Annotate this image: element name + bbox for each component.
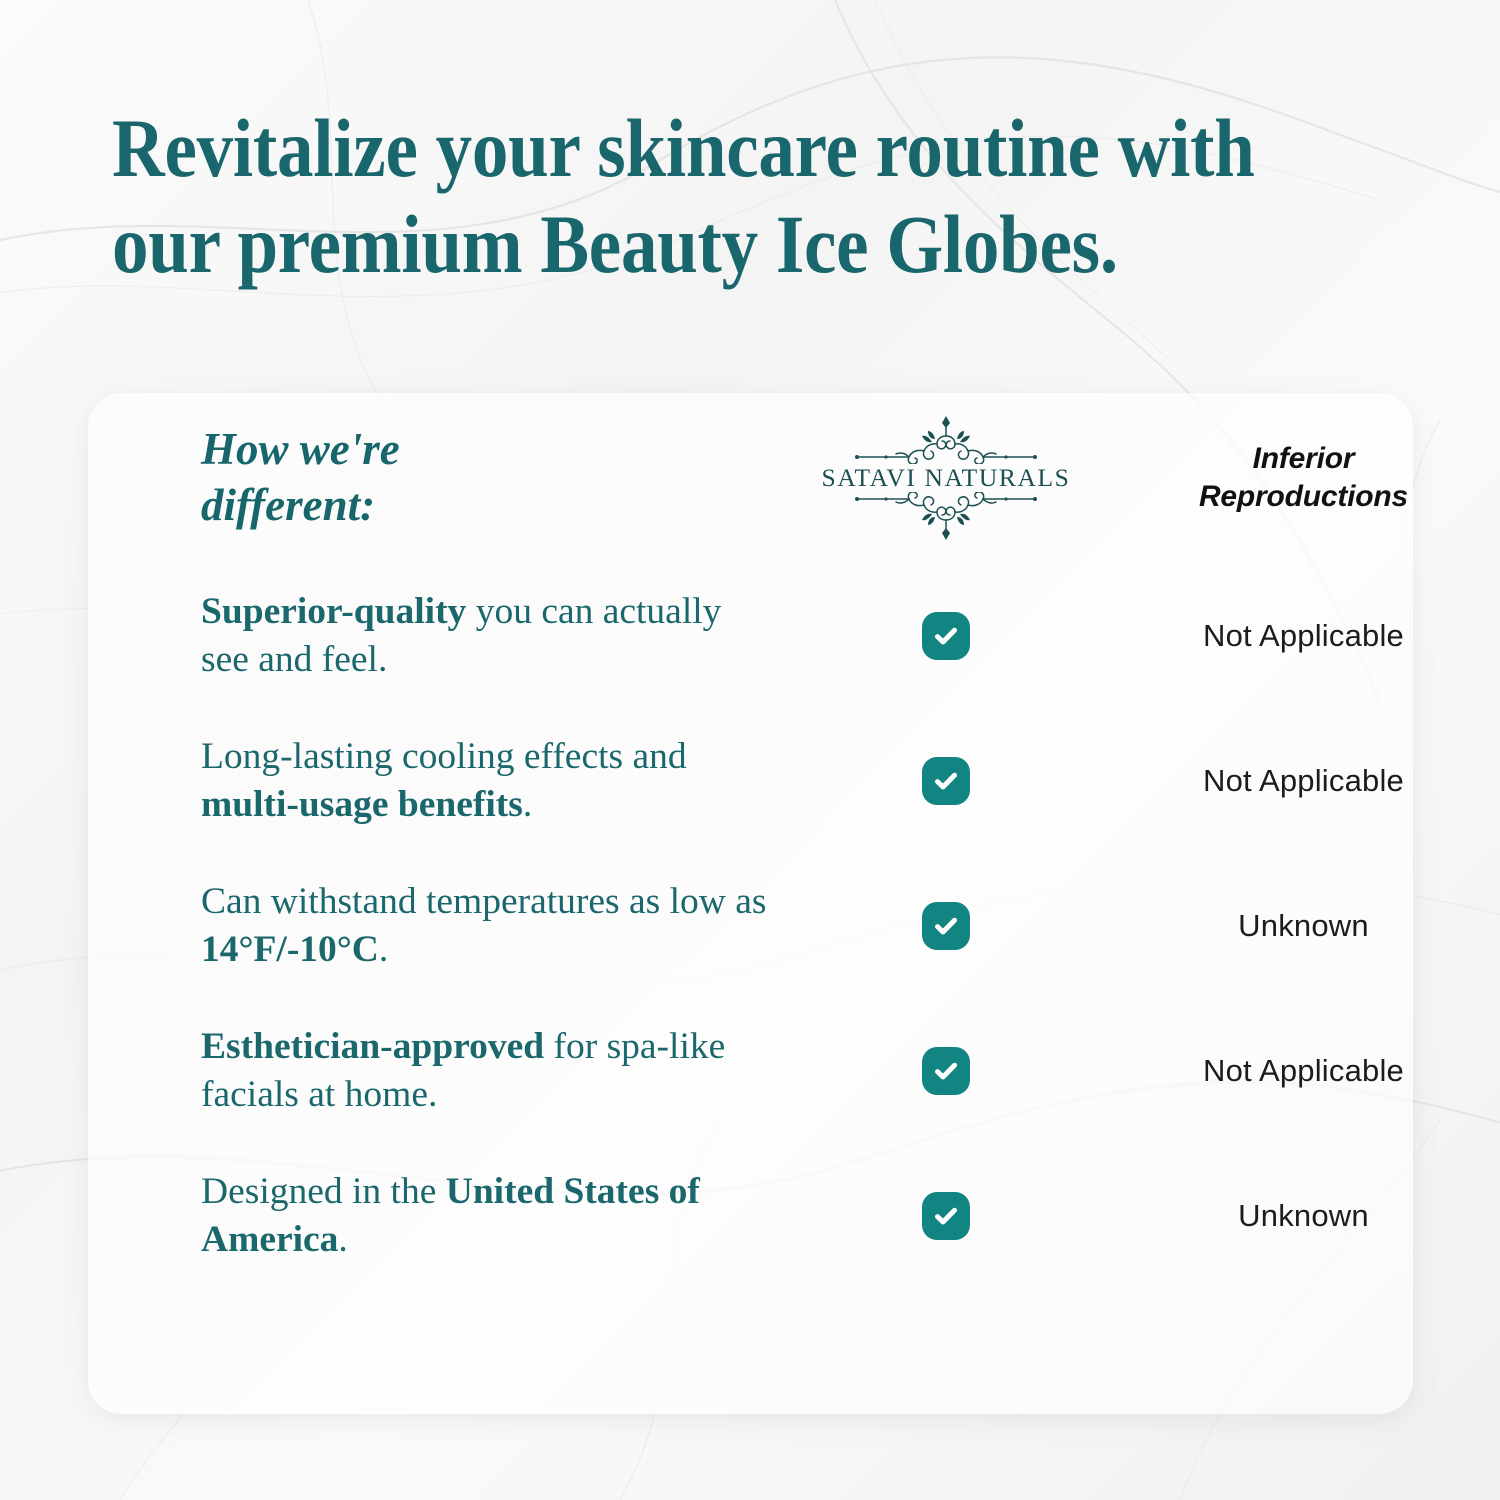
check-icon: [922, 902, 970, 950]
feature-text: Long-lasting cooling effects and multi-u…: [201, 733, 811, 829]
column-header-features: How we're different:: [201, 393, 811, 563]
column-header-competitor-label: Inferior Reproductions: [1081, 440, 1500, 517]
column-header-brand: SATAVI NATURALS: [811, 393, 1081, 563]
page-headline: Revitalize your skincare routine with ou…: [112, 100, 1256, 293]
logo-flourish-bottom-icon: [838, 492, 1054, 542]
check-icon: [922, 1192, 970, 1240]
table-row: Long-lasting cooling effects and multi-u…: [201, 708, 811, 853]
table-row: Esthetician-approved for spa-like facial…: [201, 998, 811, 1143]
table-row: Not Applicable: [1081, 708, 1500, 853]
feature-text: Esthetician-approved for spa-like facial…: [201, 1023, 811, 1119]
competitor-value: Not Applicable: [1081, 763, 1500, 799]
competitor-value: Not Applicable: [1081, 618, 1500, 654]
table-row: [811, 563, 1081, 708]
competitor-value: Unknown: [1081, 1198, 1500, 1234]
logo-flourish-top-icon: [838, 414, 1054, 464]
check-icon: [922, 1047, 970, 1095]
table-row: [811, 708, 1081, 853]
table-row: [811, 853, 1081, 998]
comparison-table: How we're different:: [88, 393, 1413, 1414]
table-row: Not Applicable: [1081, 563, 1500, 708]
brand-logo: SATAVI NATURALS: [831, 414, 1061, 542]
table-row: Superior-quality you can actually see an…: [201, 563, 811, 708]
competitor-value: Unknown: [1081, 908, 1500, 944]
table-row: Can withstand temperatures as low as 14°…: [201, 853, 811, 998]
competitor-value: Not Applicable: [1081, 1053, 1500, 1089]
check-icon: [922, 757, 970, 805]
table-row: Unknown: [1081, 1143, 1500, 1288]
brand-wordmark: SATAVI NATURALS: [822, 465, 1071, 491]
feature-text: Superior-quality you can actually see an…: [201, 588, 811, 684]
feature-text: Designed in the United States of America…: [201, 1168, 811, 1264]
column-header-features-label: How we're different:: [201, 422, 430, 534]
table-row: Unknown: [1081, 853, 1500, 998]
feature-text: Can withstand temperatures as low as 14°…: [201, 878, 811, 974]
table-row: [811, 998, 1081, 1143]
column-header-competitor: Inferior Reproductions: [1081, 393, 1500, 563]
table-row: [811, 1143, 1081, 1288]
check-icon: [922, 612, 970, 660]
table-row: Not Applicable: [1081, 998, 1500, 1143]
table-row: Designed in the United States of America…: [201, 1143, 811, 1288]
